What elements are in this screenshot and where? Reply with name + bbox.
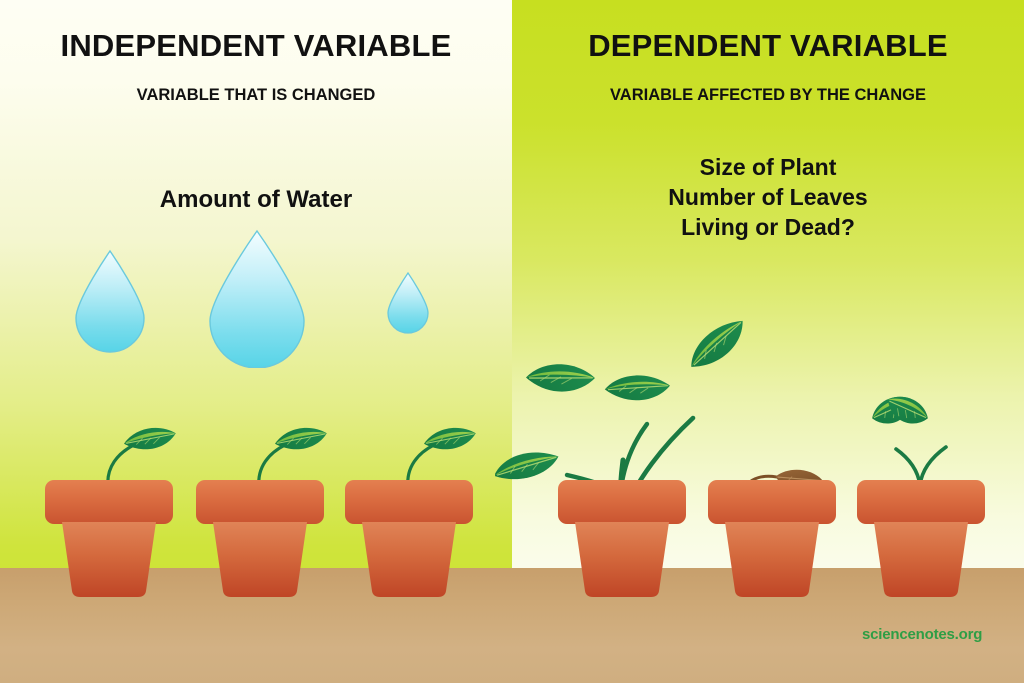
potted-plant-right-3 <box>852 395 992 600</box>
water-drop-small <box>385 271 431 336</box>
potted-plant-right-2-dead <box>703 455 843 600</box>
potted-plant-left-2 <box>191 405 331 600</box>
potted-plant-left-1 <box>40 405 180 600</box>
independent-variable-subtitle: VARIABLE THAT IS CHANGED <box>0 86 512 105</box>
dependent-variable-example-1: Size of Plant <box>512 152 1024 182</box>
water-drop-medium <box>72 248 148 353</box>
water-drop-large <box>206 228 308 368</box>
dependent-variable-examples: Size of Plant Number of Leaves Living or… <box>512 152 1024 242</box>
sciencenotes-watermark: sciencenotes.org <box>862 626 982 643</box>
potted-plant-left-3 <box>340 405 480 600</box>
dependent-variable-example-2: Number of Leaves <box>512 182 1024 212</box>
dependent-variable-title: DEPENDENT VARIABLE <box>512 28 1024 64</box>
independent-variable-title: INDEPENDENT VARIABLE <box>0 28 512 64</box>
independent-variable-example: Amount of Water <box>0 186 512 214</box>
infographic-canvas: INDEPENDENT VARIABLE VARIABLE THAT IS CH… <box>0 0 1024 683</box>
dependent-variable-example-3: Living or Dead? <box>512 212 1024 242</box>
dependent-variable-subtitle: VARIABLE AFFECTED BY THE CHANGE <box>512 86 1024 105</box>
